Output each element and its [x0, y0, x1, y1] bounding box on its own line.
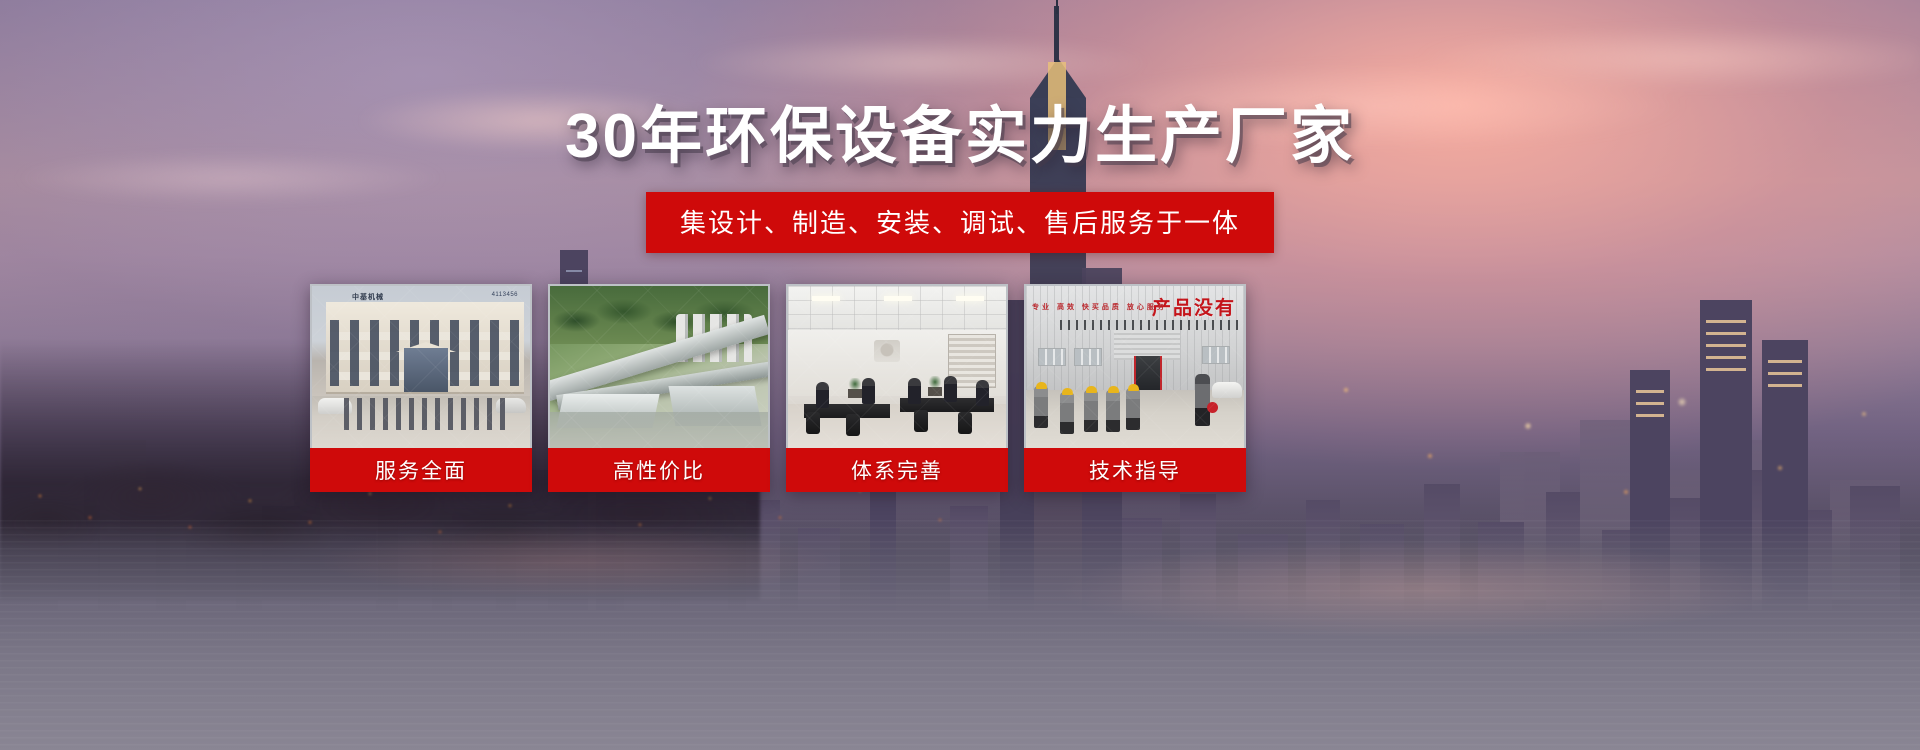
building-sign-label: 中基机械: [352, 292, 384, 302]
card-caption: 高性价比: [548, 448, 770, 492]
building-sign-secondary: 4113456: [492, 292, 518, 298]
card-photo-aerial-plant: [548, 284, 770, 448]
card-caption: 服务全面: [310, 448, 532, 492]
card-caption: 技术指导: [1024, 448, 1246, 492]
feature-card[interactable]: 高性价比: [548, 284, 770, 492]
factory-slogan-text: 专业 高效 快买品质 放心服务: [1032, 302, 1167, 312]
card-photo-office-building: 中基机械 4113456: [310, 284, 532, 448]
feature-card[interactable]: 中基机械 4113456 服务全面: [310, 284, 532, 492]
card-caption: 体系完善: [786, 448, 1008, 492]
feature-card[interactable]: 体系完善: [786, 284, 1008, 492]
card-photo-office-interior: [786, 284, 1008, 448]
subtitle-banner: 集设计、制造、安装、调试、售后服务于一体: [646, 192, 1274, 253]
feature-card-list: 中基机械 4113456 服务全面: [310, 284, 1258, 492]
feature-card[interactable]: 产品没有 专业 高效 快买品质 放心服务: [1024, 284, 1246, 492]
card-photo-factory-yard: 产品没有 专业 高效 快买品质 放心服务: [1024, 284, 1246, 448]
page-title: 30年环保设备实力生产厂家: [0, 103, 1920, 171]
river-water: [0, 520, 1920, 750]
hero-banner: 30年环保设备实力生产厂家 集设计、制造、安装、调试、售后服务于一体 中基机械 …: [0, 0, 1920, 750]
subtitle-banner-wrap: 集设计、制造、安装、调试、售后服务于一体: [0, 192, 1920, 253]
